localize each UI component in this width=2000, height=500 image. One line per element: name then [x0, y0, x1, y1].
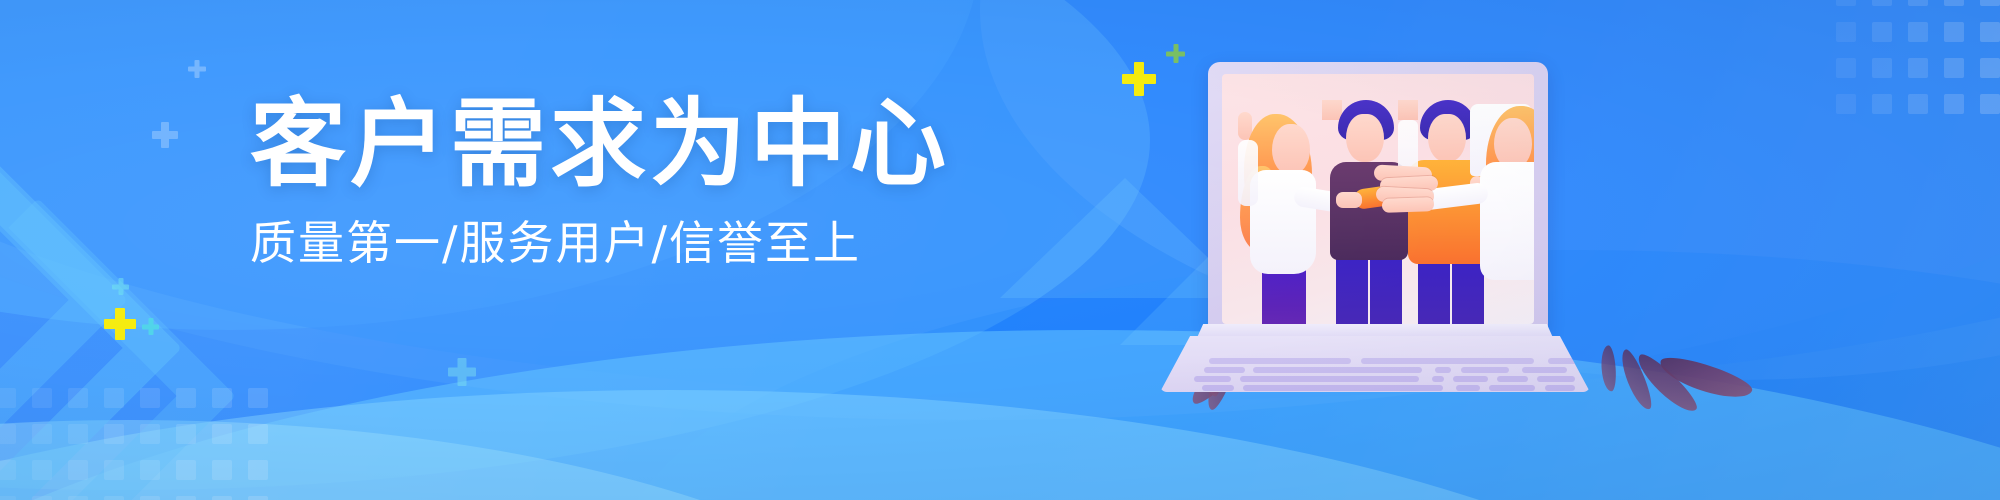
keyboard-key	[1240, 376, 1419, 382]
laptop-keyboard-deck	[1160, 336, 1590, 392]
grid-dot	[1836, 22, 1856, 42]
keyboard-key	[1545, 385, 1575, 391]
plus-green-small-icon	[1166, 44, 1185, 63]
grid-dot	[1944, 58, 1964, 78]
grid-dot	[212, 496, 232, 500]
keyboard-key	[1432, 376, 1445, 382]
keyboard-key	[1253, 367, 1423, 373]
grid-dot	[1836, 58, 1856, 78]
grid-dot	[1872, 58, 1892, 78]
keyboard-key	[1522, 367, 1567, 373]
grid-dot	[1872, 94, 1892, 114]
laptop-base	[1160, 318, 1590, 392]
grid-dot	[176, 460, 196, 480]
plus-white-upper-icon	[188, 60, 206, 78]
keyboard-key	[1435, 367, 1451, 373]
keyboard-key	[1537, 376, 1575, 382]
keyboard-key	[1461, 367, 1509, 373]
plus-white-left-icon	[152, 122, 178, 148]
keyboard-key	[1453, 376, 1488, 382]
grid-dot	[1872, 22, 1892, 42]
grid-dot	[1980, 22, 2000, 42]
stacked-hands-group	[1372, 166, 1448, 214]
grid-dot	[1980, 58, 2000, 78]
grid-dot	[1944, 22, 1964, 42]
grid-dot	[1872, 0, 1892, 6]
grid-dot	[1836, 94, 1856, 114]
grid-dot	[1980, 0, 2000, 6]
keyboard-key	[1548, 358, 1578, 364]
grid-dot	[1944, 0, 1964, 6]
grid-dot	[1944, 94, 1964, 114]
keyboard-key	[1230, 394, 1284, 400]
plus-yellow-large-icon	[1122, 62, 1156, 96]
keyboard-key	[1456, 385, 1480, 391]
keyboard-key	[1202, 385, 1234, 391]
keyboard-key	[1497, 376, 1527, 382]
banner-subline: 质量第一/服务用户/信誉至上	[250, 218, 870, 270]
grid-dot	[1908, 94, 1928, 114]
grid-dot	[1908, 22, 1928, 42]
grid-dot	[176, 496, 196, 500]
grid-dot	[1836, 0, 1856, 6]
leaf	[1600, 345, 1617, 392]
keyboard-key	[1392, 394, 1469, 400]
keyboard-key	[1514, 394, 1564, 400]
laptop-screen	[1222, 74, 1534, 324]
laptop-keyboard-keys	[1160, 356, 1590, 408]
keyboard-key	[1243, 385, 1443, 391]
grid-dot	[212, 460, 232, 480]
grid-dot	[248, 496, 268, 500]
laptop-lid	[1208, 62, 1548, 334]
keyboard-key	[1477, 394, 1506, 400]
team-handshake-illustration	[1160, 62, 1590, 392]
grid-dot	[1908, 0, 1928, 6]
person-woman-right	[1470, 104, 1534, 324]
grid-dot	[1980, 94, 2000, 114]
keyboard-key	[1489, 385, 1535, 391]
banner-headline: 客户需求为中心	[250, 96, 870, 192]
banner-copy: 客户需求为中心 质量第一/服务用户/信誉至上	[250, 96, 870, 270]
keyboard-key	[1361, 358, 1534, 364]
keyboard-key	[1292, 394, 1382, 400]
grid-dot	[140, 496, 160, 500]
keyboard-key	[1209, 358, 1351, 364]
keyboard-key	[1194, 376, 1231, 382]
grid-dot	[1908, 58, 1928, 78]
grid-dot	[248, 460, 268, 480]
keyboard-key	[1204, 367, 1246, 373]
promo-banner: 客户需求为中心 质量第一/服务用户/信誉至上	[0, 0, 2000, 500]
